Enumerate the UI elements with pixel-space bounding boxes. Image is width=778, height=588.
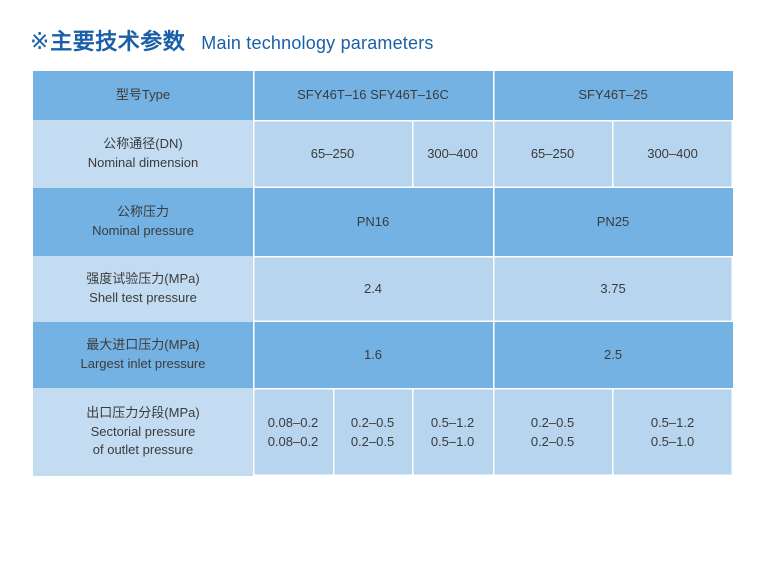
- cell-type-group-2: SFY46T–25: [493, 71, 733, 120]
- row-label-en: Shell test pressure: [39, 289, 247, 308]
- row-label-en: Sectorial pressure: [39, 423, 247, 442]
- row-label-en: Nominal dimension: [39, 154, 247, 173]
- row-label-en: Nominal pressure: [39, 222, 247, 241]
- row-label-shell-test-pressure: 强度试验压力(MPa) Shell test pressure: [33, 256, 253, 322]
- cell-pn-1: PN16: [253, 188, 493, 256]
- row-label-cn: 出口压力分段(MPa): [39, 404, 247, 423]
- cell-outlet-3: 0.5–1.2 0.5–1.0: [412, 388, 493, 476]
- cell-outlet-1-line1: 0.08–0.2: [255, 413, 331, 433]
- table-row: 公称压力 Nominal pressure PN16 PN25: [33, 188, 733, 256]
- row-label-cn: 强度试验压力(MPa): [39, 270, 247, 289]
- row-label-cn: 最大进口压力(MPa): [39, 336, 247, 355]
- row-label-en-2: of outlet pressure: [39, 441, 247, 460]
- cell-outlet-5-line1: 0.5–1.2: [614, 413, 731, 433]
- cell-dn-1: 65–250: [253, 120, 412, 188]
- table-row: 公称通径(DN) Nominal dimension 65–250 300–40…: [33, 120, 733, 188]
- cell-outlet-3-line1: 0.5–1.2: [414, 413, 491, 433]
- cell-outlet-4-line1: 0.2–0.5: [495, 413, 610, 433]
- cell-outlet-4: 0.2–0.5 0.2–0.5: [493, 388, 612, 476]
- reference-mark-icon: ※: [30, 30, 49, 53]
- page-title: ※ 主要技术参数 Main technology parameters: [30, 24, 434, 56]
- cell-inlet-1: 1.6: [253, 322, 493, 388]
- cell-outlet-3-line2: 0.5–1.0: [414, 432, 491, 452]
- table-row: 最大进口压力(MPa) Largest inlet pressure 1.6 2…: [33, 322, 733, 388]
- cell-outlet-5-line2: 0.5–1.0: [614, 432, 731, 452]
- table-row: 出口压力分段(MPa) Sectorial pressure of outlet…: [33, 388, 733, 476]
- cell-shell-1: 2.4: [253, 256, 493, 322]
- cell-outlet-1: 0.08–0.2 0.08–0.2: [253, 388, 333, 476]
- row-label-cn: 型号Type: [39, 86, 247, 105]
- cell-dn-3: 65–250: [493, 120, 612, 188]
- cell-pn-2: PN25: [493, 188, 733, 256]
- row-label-cn: 公称压力: [39, 203, 247, 222]
- row-label-nominal-dimension: 公称通径(DN) Nominal dimension: [33, 120, 253, 188]
- cell-outlet-2-line2: 0.2–0.5: [335, 432, 410, 452]
- row-label-nominal-pressure: 公称压力 Nominal pressure: [33, 188, 253, 256]
- row-label-en: Largest inlet pressure: [39, 355, 247, 374]
- cell-type-group-1: SFY46T–16 SFY46T–16C: [253, 71, 493, 120]
- page-title-en: Main technology parameters: [201, 33, 433, 54]
- specification-table: 型号Type SFY46T–16 SFY46T–16C SFY46T–25 公称…: [33, 71, 733, 476]
- cell-outlet-2-line1: 0.2–0.5: [335, 413, 410, 433]
- cell-inlet-2: 2.5: [493, 322, 733, 388]
- table-row: 型号Type SFY46T–16 SFY46T–16C SFY46T–25: [33, 71, 733, 120]
- row-label-sectorial-outlet-pressure: 出口压力分段(MPa) Sectorial pressure of outlet…: [33, 388, 253, 476]
- page-title-cn: 主要技术参数: [50, 24, 185, 56]
- row-label-type: 型号Type: [33, 71, 253, 120]
- page-root: ※ 主要技术参数 Main technology parameters 型号Ty…: [0, 0, 778, 588]
- cell-outlet-1-line2: 0.08–0.2: [255, 432, 331, 452]
- cell-dn-2: 300–400: [412, 120, 493, 188]
- row-label-largest-inlet-pressure: 最大进口压力(MPa) Largest inlet pressure: [33, 322, 253, 388]
- row-label-cn: 公称通径(DN): [39, 135, 247, 154]
- cell-shell-2: 3.75: [493, 256, 733, 322]
- cell-outlet-4-line2: 0.2–0.5: [495, 432, 610, 452]
- cell-dn-4: 300–400: [612, 120, 733, 188]
- table-row: 强度试验压力(MPa) Shell test pressure 2.4 3.75: [33, 256, 733, 322]
- cell-outlet-5: 0.5–1.2 0.5–1.0: [612, 388, 733, 476]
- cell-outlet-2: 0.2–0.5 0.2–0.5: [333, 388, 412, 476]
